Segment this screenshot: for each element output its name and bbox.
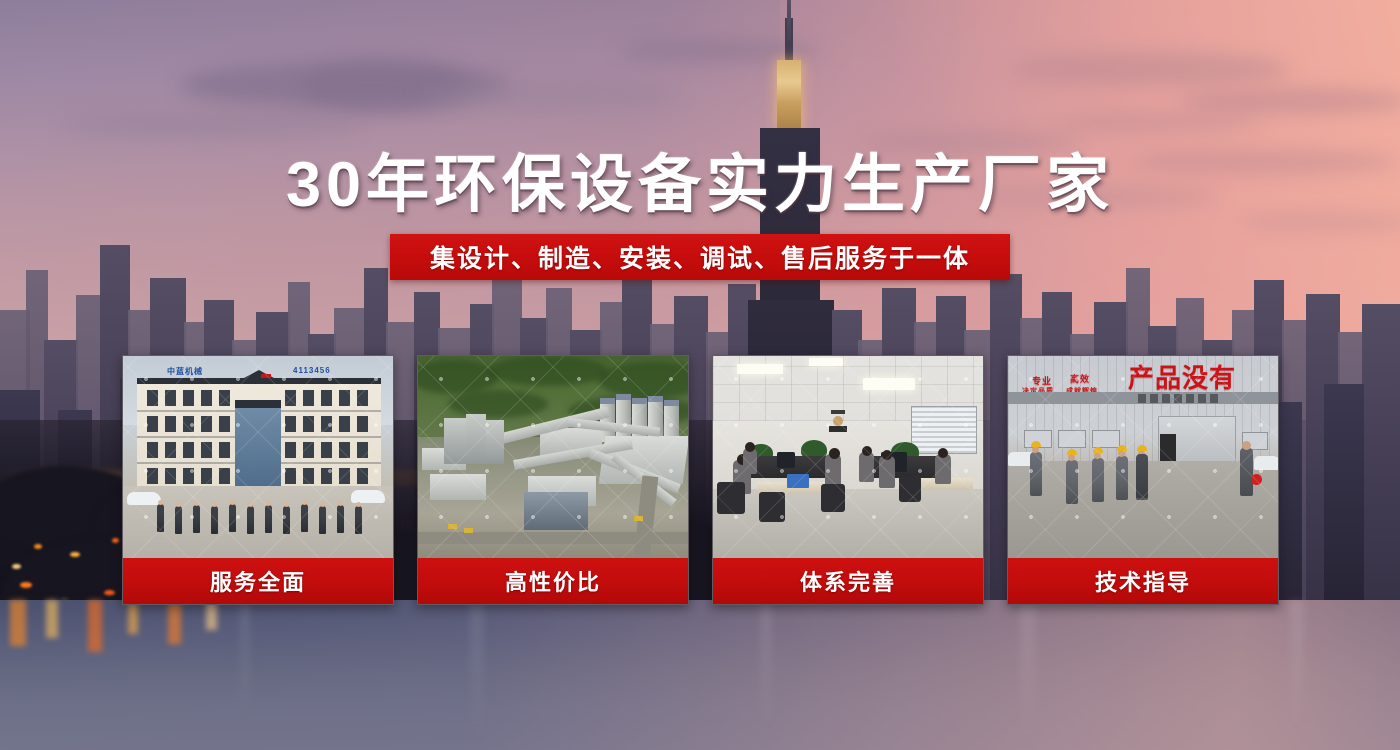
card-caption: 体系完善	[713, 558, 983, 604]
building-sign-text: 中蓝机械	[167, 366, 203, 377]
feature-card-service[interactable]: 中蓝机械 4113456 服务全面	[122, 355, 394, 605]
office-interior-photo	[713, 356, 983, 558]
feature-card-system[interactable]: 体系完善	[712, 355, 984, 605]
wall-decal	[821, 408, 855, 434]
feature-card-value[interactable]: 高性价比	[417, 355, 689, 605]
promo-banner: 30年环保设备实力生产厂家 集设计、制造、安装、调试、售后服务于一体	[0, 0, 1400, 750]
river-water	[0, 600, 1400, 750]
page-title: 30年环保设备实力生产厂家	[0, 134, 1400, 225]
card-caption: 服务全面	[123, 558, 393, 604]
feature-cards: 中蓝机械 4113456 服务全面	[122, 355, 1280, 605]
card-caption: 技术指导	[1008, 558, 1278, 604]
tower-antenna	[787, 0, 791, 66]
factory-wall-slogan-small-2: 高效	[1070, 372, 1090, 385]
tower-crown-lights	[777, 60, 801, 132]
factory-wall-slogan: 产品没有	[1128, 358, 1236, 395]
company-building-staff-photo: 中蓝机械 4113456	[123, 356, 393, 558]
industrial-plant-aerial-photo	[418, 356, 688, 558]
building-phone-text: 4113456	[293, 366, 331, 375]
factory-workers-photo: 产品没有 专业 高效 决定品质 成就辉煌	[1008, 356, 1278, 558]
card-caption: 高性价比	[418, 558, 688, 604]
feature-card-technical[interactable]: 产品没有 专业 高效 决定品质 成就辉煌	[1007, 355, 1279, 605]
subtitle-banner: 集设计、制造、安装、调试、售后服务于一体	[390, 234, 1010, 280]
subtitle-text: 集设计、制造、安装、调试、售后服务于一体	[430, 239, 970, 275]
